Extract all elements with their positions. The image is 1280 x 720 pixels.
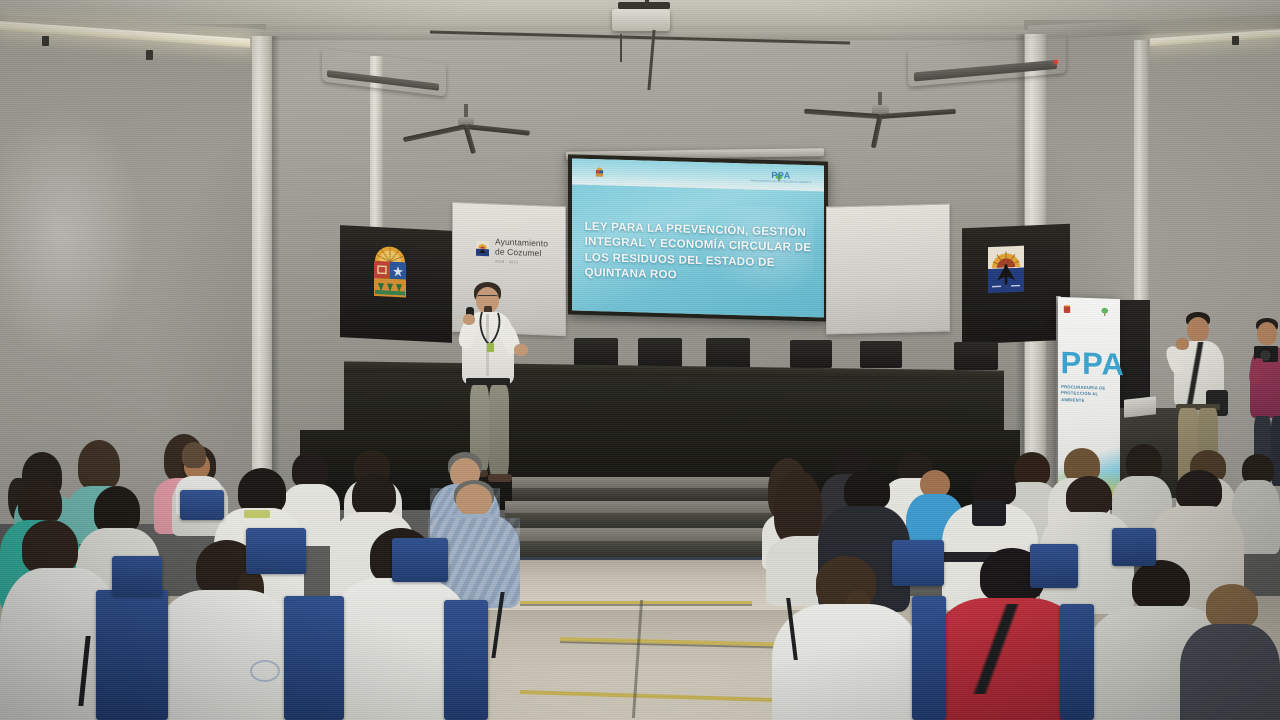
ceiling-fan-right-rod [878, 92, 882, 106]
hair [774, 470, 822, 544]
crest-panel-right [962, 224, 1070, 345]
light-clip-right-1 [1232, 36, 1239, 45]
gobierno-qroo-icon [1064, 305, 1070, 313]
torso [150, 590, 300, 720]
projector-rod [645, 0, 649, 6]
slide-ppa-brand: PPA PROCURADURÍA DE PROTECCIÓN AL AMBIEN… [751, 170, 812, 184]
speaker-glasses [477, 295, 498, 300]
chair[interactable] [1030, 544, 1078, 588]
hair [22, 520, 78, 574]
shirt-logo [250, 660, 280, 682]
screen-surface: PPA PROCURADURÍA DE PROTECCIÓN AL AMBIEN… [572, 158, 824, 317]
hair [1206, 584, 1258, 628]
standing-hand-left [1176, 338, 1189, 350]
step-2-tread [505, 501, 791, 513]
stage-chair-1 [574, 338, 618, 368]
wall-sign-line2: de Cozumel [495, 247, 548, 259]
chair[interactable] [112, 556, 162, 596]
ac-right-led [1054, 60, 1058, 64]
chair[interactable] [392, 538, 448, 582]
banner-logos [1062, 301, 1117, 321]
ceiling-fan-left-rod [464, 104, 468, 118]
speaker-hand-left [463, 314, 475, 325]
chair[interactable] [96, 590, 168, 720]
light-clip-left-1 [42, 36, 49, 46]
light-clip-left-2 [146, 50, 153, 60]
head [456, 484, 492, 516]
stage-chair-4 [790, 340, 832, 368]
bag-strap [964, 604, 1028, 694]
photographer-head [1257, 322, 1277, 345]
stage-chair-2 [638, 338, 682, 368]
hair [352, 474, 396, 516]
hair [1066, 476, 1112, 516]
whiteboard-right [826, 203, 950, 334]
audience-member [178, 442, 210, 482]
chair[interactable] [246, 528, 306, 574]
hair [182, 442, 206, 468]
hair [78, 440, 120, 490]
banner-brand: PPA [1060, 347, 1124, 380]
torso [1180, 624, 1280, 720]
projection-screen: PPA PROCURADURÍA DE PROTECCIÓN AL AMBIEN… [568, 154, 828, 321]
wall-sign-term: 2018 - 2021 [495, 259, 548, 265]
hair [1176, 470, 1222, 510]
tile-grout-1b [520, 604, 752, 606]
chair[interactable] [912, 596, 946, 720]
slide-title: LEY PARA LA PREVENCIÓN, GESTIÓN INTEGRAL… [585, 220, 817, 288]
cozumel-crest-icon [475, 240, 490, 258]
laptop [1124, 396, 1156, 417]
ceiling-projector [612, 9, 670, 31]
step-3-face [498, 541, 798, 557]
torso [772, 604, 922, 720]
projector-mount [618, 2, 670, 9]
standing-head [1187, 317, 1209, 342]
chair[interactable] [892, 540, 944, 586]
hair [18, 480, 62, 524]
step-1-face [512, 488, 784, 501]
stage-chair-5 [860, 341, 902, 368]
step-2-face [505, 513, 791, 528]
lanyard-badge [244, 510, 270, 518]
banner-subtitle: PROCURADURÍA DE PROTECCIÓN AL AMBIENTE [1061, 384, 1117, 405]
photo-scene: PPA PROCURADURÍA DE PROTECCIÓN AL AMBIEN… [0, 0, 1280, 720]
audience-member [1180, 584, 1280, 720]
crest-quintana-roo-icon [595, 167, 604, 177]
column-far-right [1134, 40, 1149, 340]
chair[interactable] [444, 600, 488, 720]
chair[interactable] [1112, 528, 1156, 566]
column-left [252, 36, 272, 506]
speaker-hand-right [514, 344, 528, 356]
stage-chair-3 [706, 338, 750, 368]
chair[interactable] [180, 490, 224, 520]
hair [844, 470, 890, 510]
chair[interactable] [1060, 604, 1094, 720]
bag-strap [972, 500, 1006, 526]
column-left-shadow [272, 36, 280, 506]
stage-chair-6 [954, 342, 998, 370]
step-3-tread [498, 528, 798, 541]
chair[interactable] [284, 596, 344, 720]
step-1-tread [512, 477, 784, 488]
crest-panel-left [340, 225, 452, 343]
escudo-quintana-roo [368, 239, 412, 305]
escudo-cozumel [984, 239, 1028, 301]
leaf-icon [1101, 308, 1108, 316]
